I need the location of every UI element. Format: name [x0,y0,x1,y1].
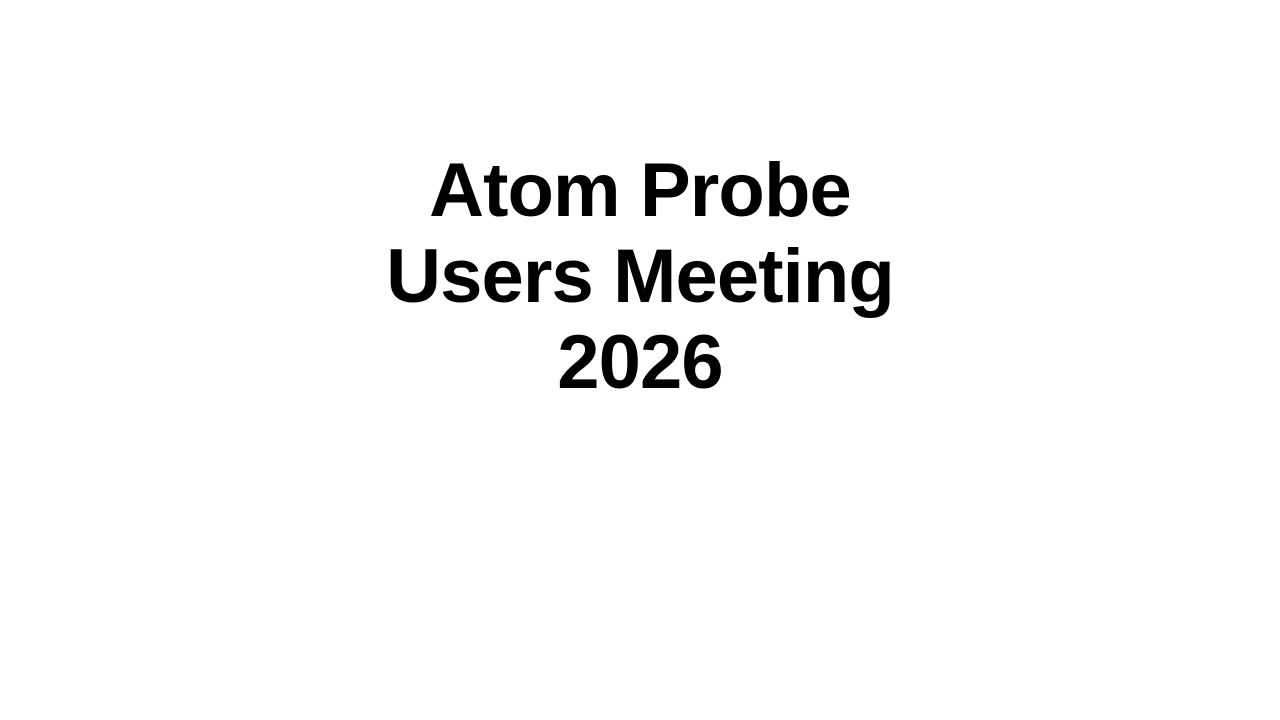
slide-title-line-1: Atom Probe [0,148,1280,234]
slide-title-line-2: Users Meeting [0,234,1280,320]
slide-title-block: Atom Probe Users Meeting 2026 [0,0,1280,406]
slide-canvas: Atom Probe Users Meeting 2026 [0,0,1280,720]
slide-title-line-3: 2026 [0,320,1280,406]
